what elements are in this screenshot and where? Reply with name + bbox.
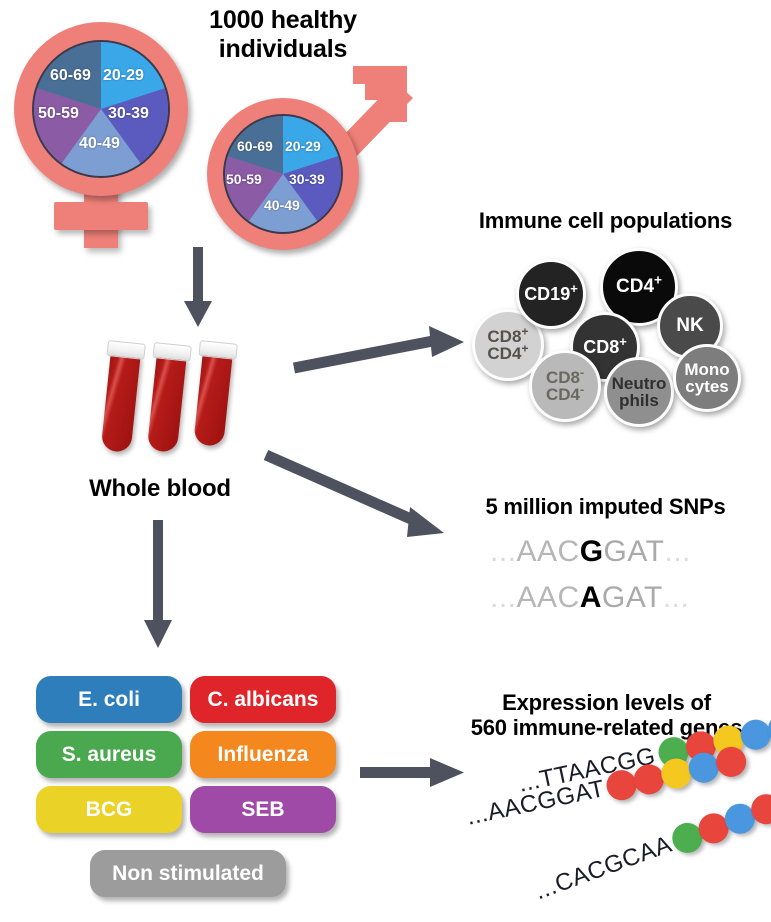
bead-red	[603, 767, 639, 803]
bead-red	[631, 762, 667, 798]
bead-yellow	[658, 756, 694, 792]
strand-sequence: ...CACGCAA	[531, 831, 676, 906]
bead-blue	[686, 750, 722, 786]
expression-strands-group: ...TTAACGG ...AACGGAT ...CACGCAA	[0, 0, 771, 922]
bead-red	[713, 744, 749, 780]
figure-canvas: 1000 healthy individuals 20-29 30-39 40-…	[0, 0, 771, 922]
